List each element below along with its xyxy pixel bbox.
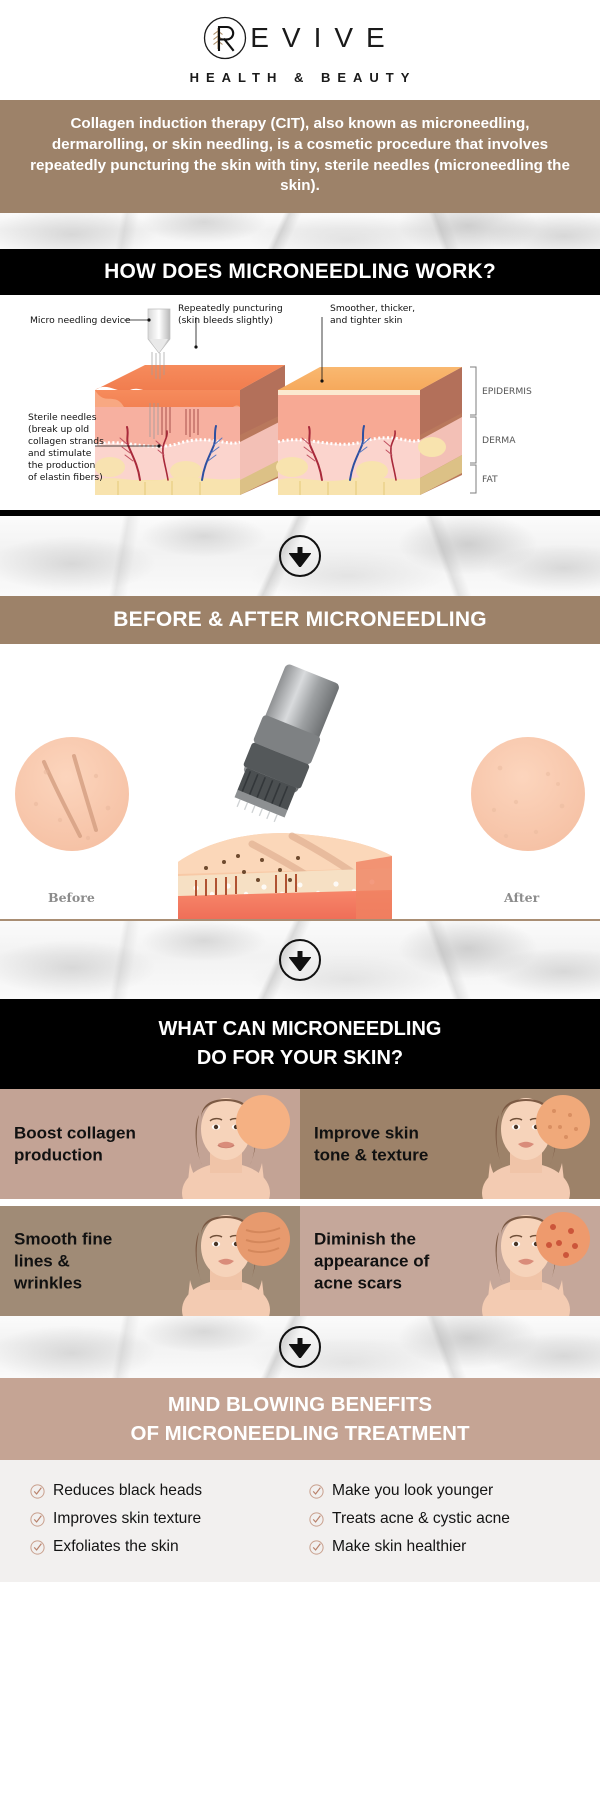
- smooth-skin-swatch: [236, 1095, 290, 1149]
- intro-paragraph: Collagen induction therapy (CIT), also k…: [22, 114, 578, 197]
- benefit-item: Treats acne & cystic acne: [309, 1510, 570, 1528]
- intro-band: Collagen induction therapy (CIT), also k…: [0, 100, 600, 213]
- down-arrow-icon: [279, 1326, 321, 1368]
- down-arrow-icon: [279, 535, 321, 577]
- skin-block-after: Smoother, thicker, and tighter skin EPID…: [276, 303, 532, 495]
- skin-block-during: Micro needling device Repeatedly punctur…: [28, 303, 285, 495]
- what-can-heading-line2: DO FOR YOUR SKIN?: [197, 1044, 403, 1073]
- benefit-item: Make you look younger: [309, 1482, 570, 1500]
- label-needles-line4: and stimulate: [28, 448, 92, 459]
- benefit-card-1-label: Boost collagen production: [14, 1123, 142, 1167]
- benefit-card-boost-collagen: Boost collagen production: [0, 1089, 300, 1199]
- microneedling-pen-on-skin: [178, 663, 392, 920]
- brand-header: EVIVE HEALTH & BEAUTY: [0, 0, 600, 100]
- benefit-item-label: Make you look younger: [332, 1482, 493, 1500]
- what-can-heading-line1: WHAT CAN MICRONEEDLING: [159, 1015, 442, 1044]
- benefits-heading-bar: MIND BLOWING BENEFITS OF MICRONEEDLING T…: [0, 1378, 600, 1460]
- after-label: After: [503, 890, 540, 905]
- benefit-card-3-label: Smooth fine lines & wrinkles: [14, 1229, 142, 1294]
- check-circle-icon: [309, 1512, 324, 1527]
- benefit-cards-row-1: Boost collagen production Improve skin t…: [0, 1089, 600, 1199]
- benefits-list: Reduces black heads Make you look younge…: [0, 1460, 600, 1582]
- arrow-divider-1: [0, 516, 600, 596]
- check-circle-icon: [309, 1484, 324, 1499]
- benefits-heading-line2: OF MICRONEEDLING TREATMENT: [131, 1419, 470, 1449]
- label-needles-line5: the production: [28, 460, 96, 471]
- before-label: Before: [48, 890, 95, 905]
- check-circle-icon: [309, 1540, 324, 1555]
- layer-label-derma: DERMA: [482, 435, 516, 446]
- brand-name: EVIVE: [250, 24, 397, 52]
- benefit-item-label: Make skin healthier: [332, 1538, 466, 1556]
- logo-lockup: EVIVE: [202, 15, 397, 61]
- benefit-item-label: Reduces black heads: [53, 1482, 202, 1500]
- before-after-heading: BEFORE & AFTER MICRONEEDLING: [113, 608, 487, 632]
- layer-label-epidermis: EPIDERMIS: [482, 386, 532, 397]
- arrow-divider-3: [0, 1316, 600, 1378]
- label-needles-line3: collagen strands: [28, 436, 104, 447]
- wrinkle-swatch: [236, 1212, 290, 1266]
- label-needles-line1: Sterile needles: [28, 412, 97, 423]
- benefit-item: Exfoliates the skin: [30, 1538, 291, 1556]
- before-skin-swatch: [15, 737, 129, 851]
- label-puncturing-line1: Repeatedly puncturing: [178, 303, 283, 314]
- label-needles-line2: (break up old: [28, 424, 89, 435]
- benefit-item: Reduces black heads: [30, 1482, 291, 1500]
- label-needles-line6: of elastin fibers): [28, 472, 103, 483]
- how-it-works-heading: HOW DOES MICRONEEDLING WORK?: [104, 260, 496, 284]
- layer-label-fat: FAT: [482, 474, 498, 485]
- check-circle-icon: [30, 1484, 45, 1499]
- benefits-heading-line1: MIND BLOWING BENEFITS: [168, 1390, 432, 1420]
- brand-tagline: HEALTH & BEAUTY: [190, 70, 417, 85]
- before-after-heading-bar: BEFORE & AFTER MICRONEEDLING: [0, 596, 600, 644]
- label-result-line2: and tighter skin: [330, 315, 403, 326]
- arrow-divider-2: [0, 921, 600, 999]
- label-result-line1: Smoother, thicker,: [330, 303, 415, 314]
- after-skin-swatch: [471, 737, 585, 851]
- down-arrow-icon: [279, 939, 321, 981]
- benefit-card-acne-scars: Diminish the appearance of acne scars: [300, 1206, 600, 1316]
- check-circle-icon: [30, 1540, 45, 1555]
- benefit-item-label: Exfoliates the skin: [53, 1538, 179, 1556]
- skin-tone-swatch: [536, 1095, 590, 1149]
- label-puncturing-line2: (skin bleeds slightly): [178, 315, 273, 326]
- benefit-card-2-label: Improve skin tone & texture: [314, 1123, 442, 1167]
- benefit-card-improve-tone: Improve skin tone & texture: [300, 1089, 600, 1199]
- skin-diagram: Micro needling device Repeatedly punctur…: [0, 295, 600, 510]
- benefit-cards-row-2: Smooth fine lines & wrinkles: [0, 1206, 600, 1316]
- benefit-item-label: Improves skin texture: [53, 1510, 201, 1528]
- benefit-item-label: Treats acne & cystic acne: [332, 1510, 510, 1528]
- before-after-illustration: Before After: [0, 644, 600, 919]
- marble-divider-1: [0, 213, 600, 249]
- check-circle-icon: [30, 1512, 45, 1527]
- benefit-item: Make skin healthier: [309, 1538, 570, 1556]
- r-monogram-wheat-circle-icon: [202, 15, 248, 61]
- grid-gap: [0, 1199, 600, 1206]
- how-it-works-heading-bar: HOW DOES MICRONEEDLING WORK?: [0, 249, 600, 295]
- what-can-heading-bar: WHAT CAN MICRONEEDLING DO FOR YOUR SKIN?: [0, 999, 600, 1089]
- benefit-item: Improves skin texture: [30, 1510, 291, 1528]
- benefit-card-smooth-lines: Smooth fine lines & wrinkles: [0, 1206, 300, 1316]
- benefit-card-4-label: Diminish the appearance of acne scars: [314, 1229, 442, 1294]
- acne-scar-swatch: [536, 1212, 590, 1266]
- label-device: Micro needling device: [30, 315, 131, 326]
